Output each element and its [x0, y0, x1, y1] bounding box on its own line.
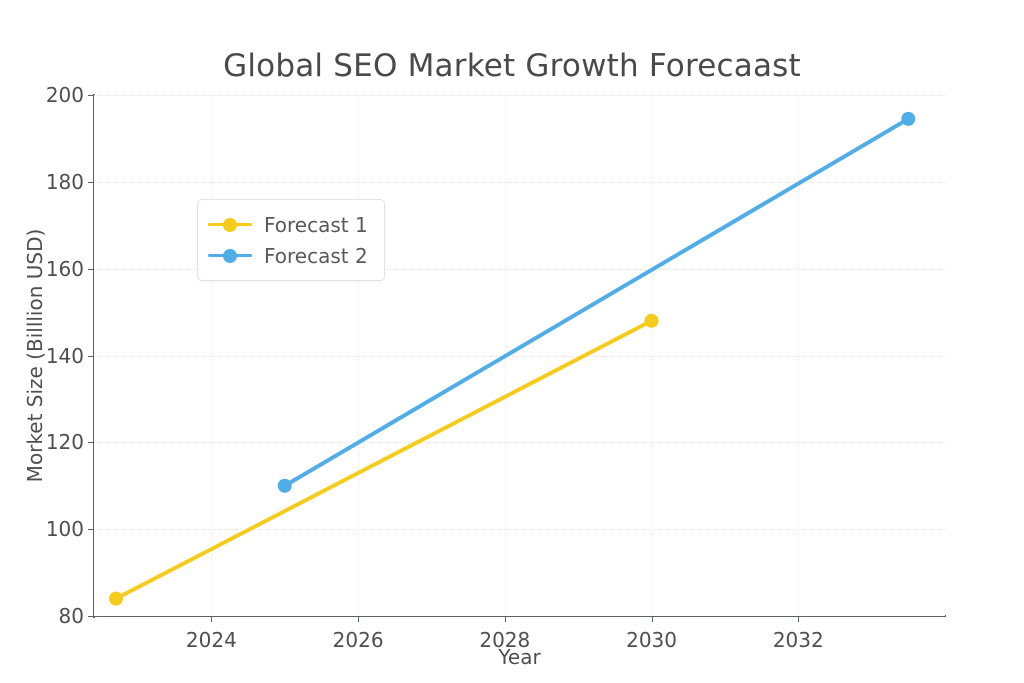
x-tick-mark — [505, 616, 506, 622]
series-line — [285, 119, 909, 486]
y-tick-label: 140 — [46, 344, 84, 368]
y-tick-label: 120 — [46, 430, 84, 454]
data-point-marker[interactable] — [645, 314, 659, 328]
series-line — [116, 321, 652, 599]
page-title: Global SEO Market Growth Forecaast — [0, 48, 1024, 84]
legend-label: Forecast 2 — [264, 244, 368, 268]
y-axis-label: Morket Size (Billlion USD) — [22, 95, 48, 616]
data-point-marker[interactable] — [278, 479, 292, 493]
y-tick-label: 100 — [46, 517, 84, 541]
legend-label: Forecast 1 — [264, 213, 368, 237]
y-tick-mark — [88, 616, 94, 617]
data-point-marker[interactable] — [109, 592, 123, 606]
legend-swatch-icon — [208, 249, 252, 263]
x-axis-label: Year — [94, 645, 945, 669]
plot-area: 80100120140160180200 2024202620282030203… — [94, 95, 945, 616]
x-tick-mark — [358, 616, 359, 622]
legend-swatch-icon — [208, 218, 252, 232]
x-tick-mark — [211, 616, 212, 622]
y-tick-label: 200 — [46, 83, 84, 107]
legend[interactable]: Forecast 1Forecast 2 — [197, 199, 385, 281]
y-tick-label: 180 — [46, 170, 84, 194]
data-point-marker[interactable] — [901, 112, 915, 126]
y-tick-label: 160 — [46, 257, 84, 281]
chart-figure: Global SEO Market Growth Forecaast 80100… — [0, 0, 1024, 683]
y-tick-label: 80 — [59, 604, 84, 628]
x-tick-mark — [652, 616, 653, 622]
x-tick-mark — [798, 616, 799, 622]
legend-item[interactable]: Forecast 2 — [208, 240, 368, 271]
series-plot — [94, 95, 945, 616]
legend-item[interactable]: Forecast 1 — [208, 209, 368, 240]
